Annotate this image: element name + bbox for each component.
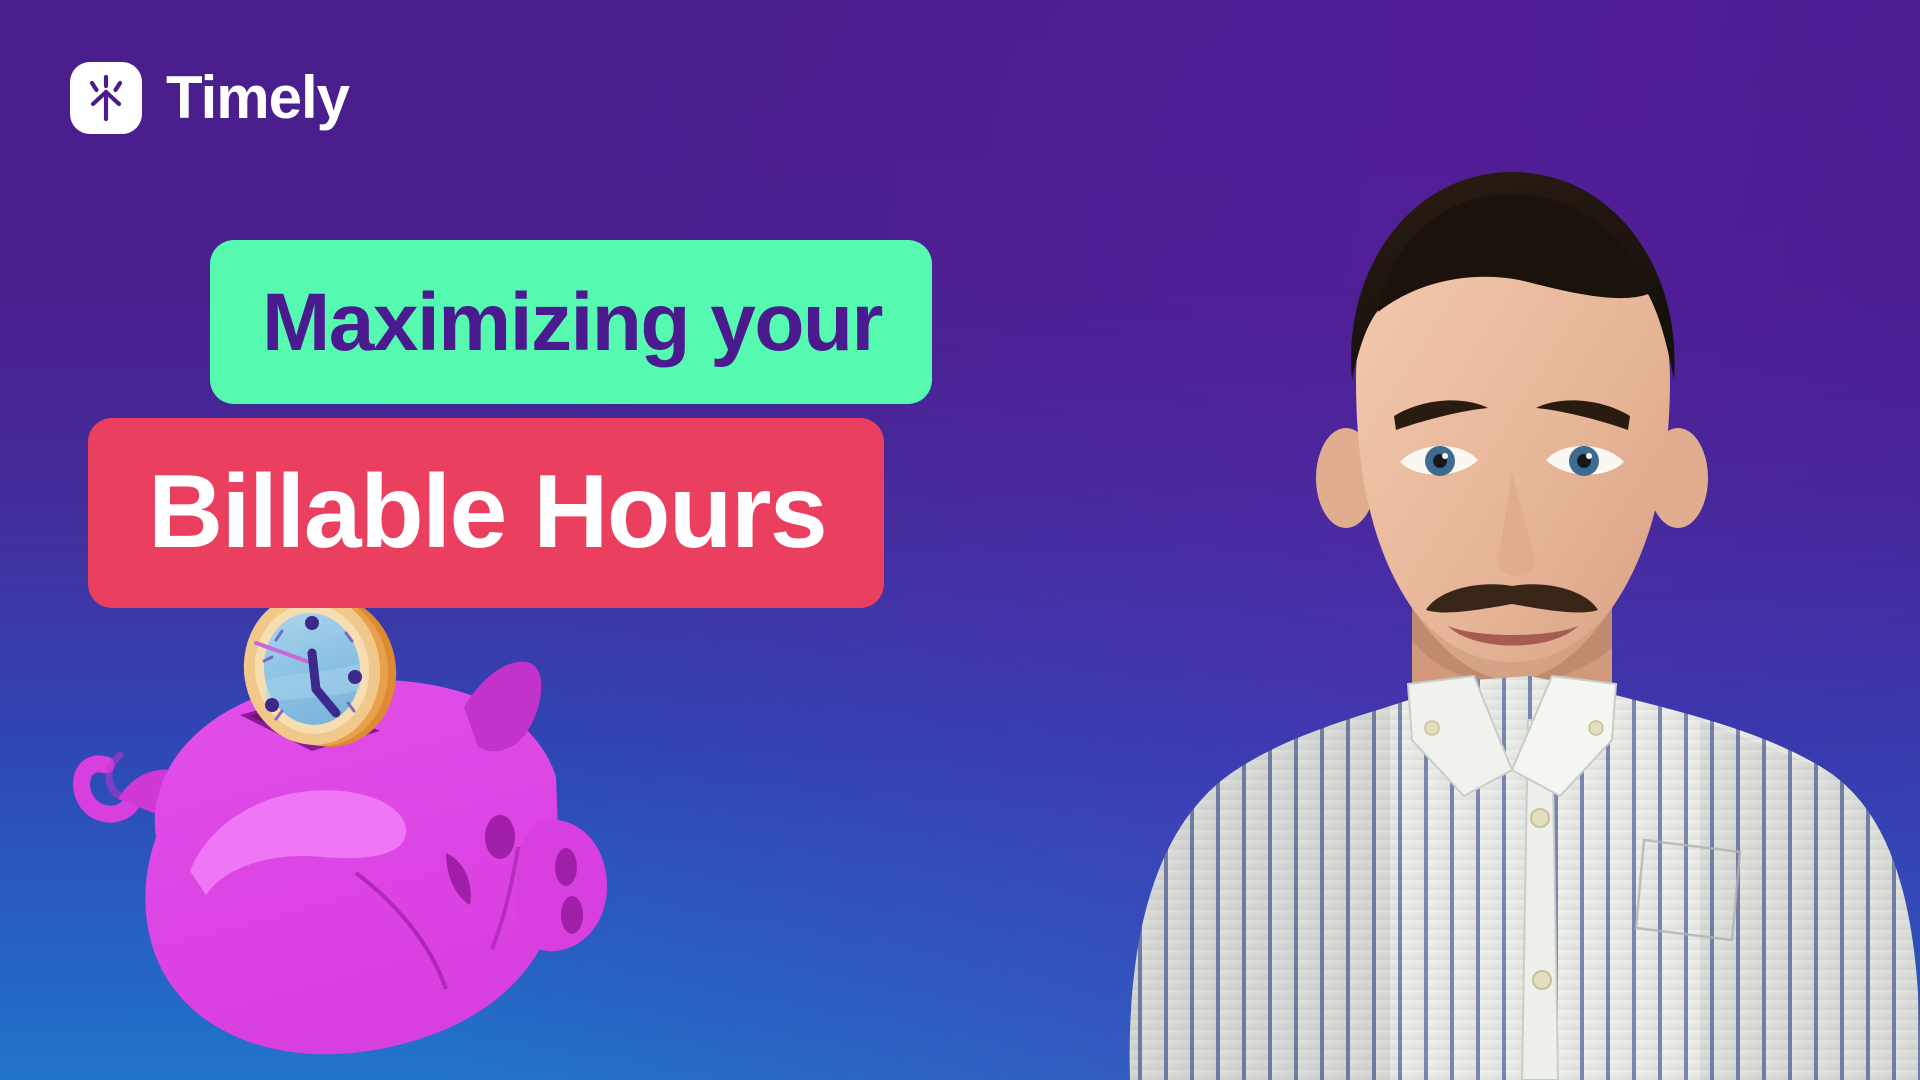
clock-hour-hand — [312, 653, 316, 689]
piggy-tail — [82, 755, 137, 814]
title-banner-line2: Billable Hours — [88, 418, 884, 608]
title-banner-line1: Maximizing your — [210, 240, 932, 404]
brand-logo-lockup: Timely — [70, 62, 349, 134]
piggy-eye — [485, 815, 515, 859]
timely-arrow-spark-icon — [70, 62, 142, 134]
piggy-bank-illustration — [60, 585, 620, 1080]
piggy-snout — [516, 819, 607, 951]
brand-name: Timely — [166, 68, 349, 128]
shirt-button — [1533, 971, 1551, 989]
presenter-photo — [1060, 80, 1920, 1080]
shirt-button — [1531, 809, 1549, 827]
video-thumbnail: Maximizing your Billable Hours Timely — [0, 0, 1920, 1080]
presenter-shirt — [1060, 640, 1920, 1080]
